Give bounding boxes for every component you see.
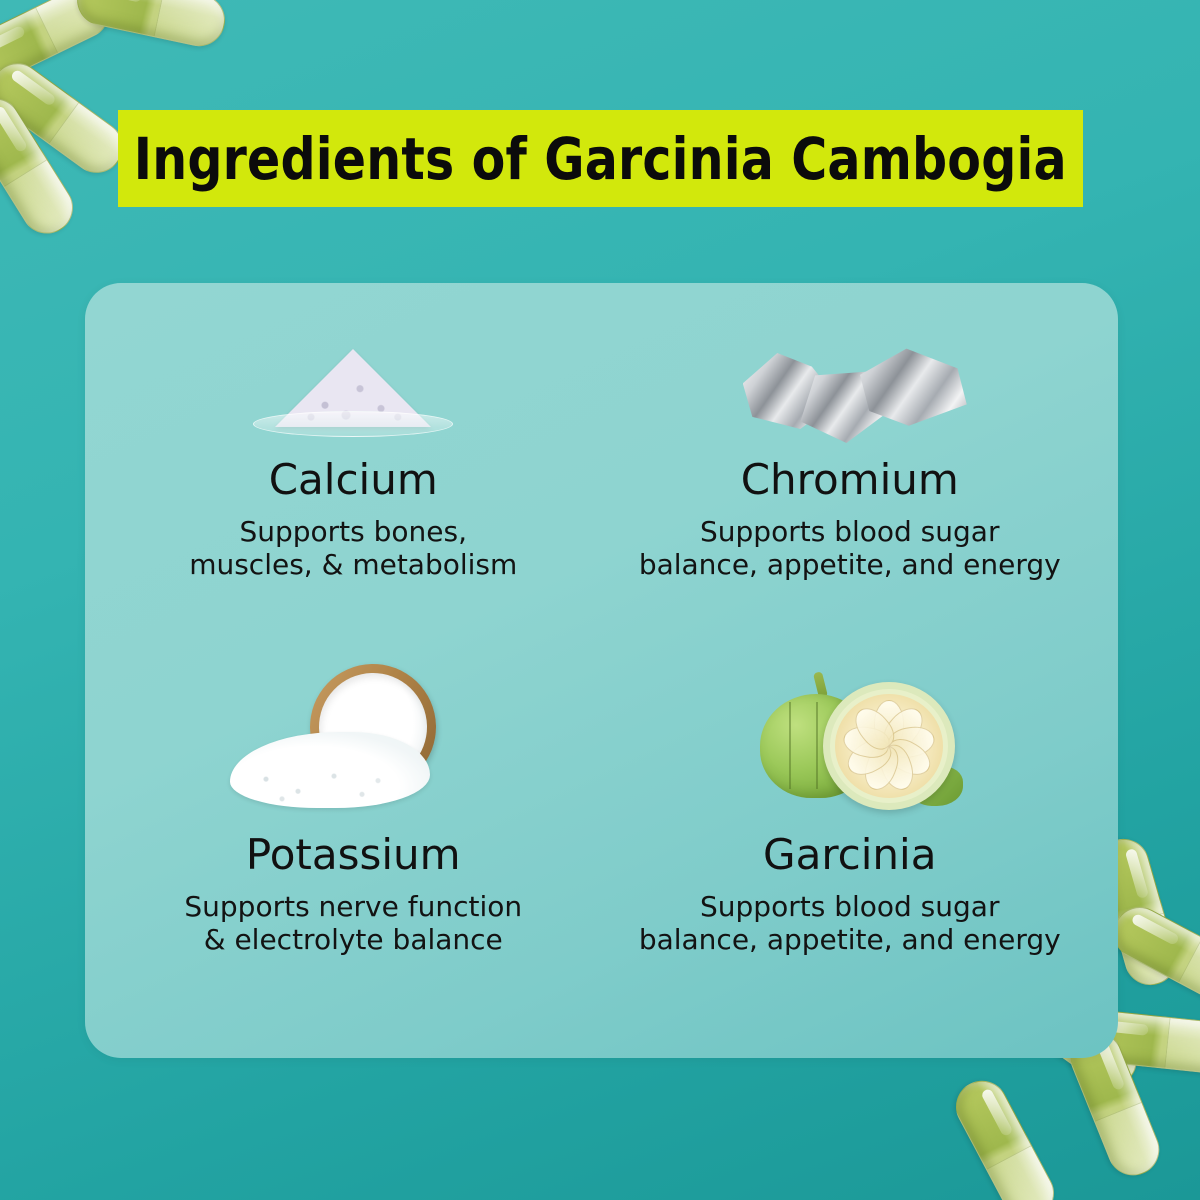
green-herbal-capsule <box>1105 898 1200 1014</box>
ingredient-item-calcium: Calcium Supports bones, muscles, & metab… <box>105 305 602 662</box>
spilled-salt-pile <box>230 732 430 808</box>
foil-cluster <box>735 337 965 437</box>
infographic-poster: Ingredients of Garcinia Cambogia Calcium… <box>0 0 1200 1200</box>
garcinia-fruit-group <box>742 672 957 812</box>
salt-bowl <box>228 662 478 812</box>
description-line-2: & electrolyte balance <box>204 923 503 956</box>
description-line-1: Supports bones, <box>239 515 467 548</box>
ingredients-card: Calcium Supports bones, muscles, & metab… <box>85 283 1118 1058</box>
ingredient-description: Supports blood sugar balance, appetite, … <box>639 890 1061 956</box>
description-line-2: balance, appetite, and energy <box>639 923 1061 956</box>
green-herbal-capsule <box>0 0 118 90</box>
ingredient-item-garcinia: Garcinia Supports blood sugar balance, a… <box>602 662 1099 1019</box>
description-line-1: Supports blood sugar <box>700 515 999 548</box>
ingredient-description: Supports nerve function & electrolyte ba… <box>184 890 522 956</box>
ingredient-item-chromium: Chromium Supports blood sugar balance, a… <box>602 305 1099 662</box>
description-line-1: Supports nerve function <box>184 890 522 923</box>
ingredient-name: Chromium <box>741 459 959 501</box>
fruit-lobe-line <box>816 702 818 789</box>
fruit-lobe-line <box>789 702 791 789</box>
potassium-salt-icon <box>105 662 602 812</box>
description-line-1: Supports blood sugar <box>700 890 999 923</box>
green-herbal-capsule <box>0 89 83 244</box>
description-line-2: muscles, & metabolism <box>189 548 517 581</box>
fruit-pulp <box>835 694 943 798</box>
salt-grain-texture <box>230 732 430 808</box>
green-herbal-capsule <box>0 53 133 183</box>
ingredient-name: Calcium <box>269 459 438 501</box>
garcinia-fruit-icon <box>602 662 1099 812</box>
ingredient-description: Supports blood sugar balance, appetite, … <box>639 515 1061 581</box>
chromium-foil-icon <box>602 305 1099 437</box>
calcium-powder-icon <box>105 305 602 437</box>
ingredient-name: Garcinia <box>763 834 936 876</box>
page-title: Ingredients of Garcinia Cambogia <box>134 125 1067 193</box>
ingredients-grid: Calcium Supports bones, muscles, & metab… <box>85 283 1118 1058</box>
green-herbal-capsule <box>72 0 230 51</box>
ingredient-description: Supports bones, muscles, & metabolism <box>189 515 517 581</box>
glass-dish-shape <box>253 411 453 437</box>
title-banner: Ingredients of Garcinia Cambogia <box>118 110 1083 207</box>
halved-fruit-shape <box>823 682 955 810</box>
ingredient-name: Potassium <box>246 834 461 876</box>
description-line-2: balance, appetite, and energy <box>639 548 1061 581</box>
green-herbal-capsule <box>947 1072 1063 1200</box>
ingredient-item-potassium: Potassium Supports nerve function & elec… <box>105 662 602 1019</box>
